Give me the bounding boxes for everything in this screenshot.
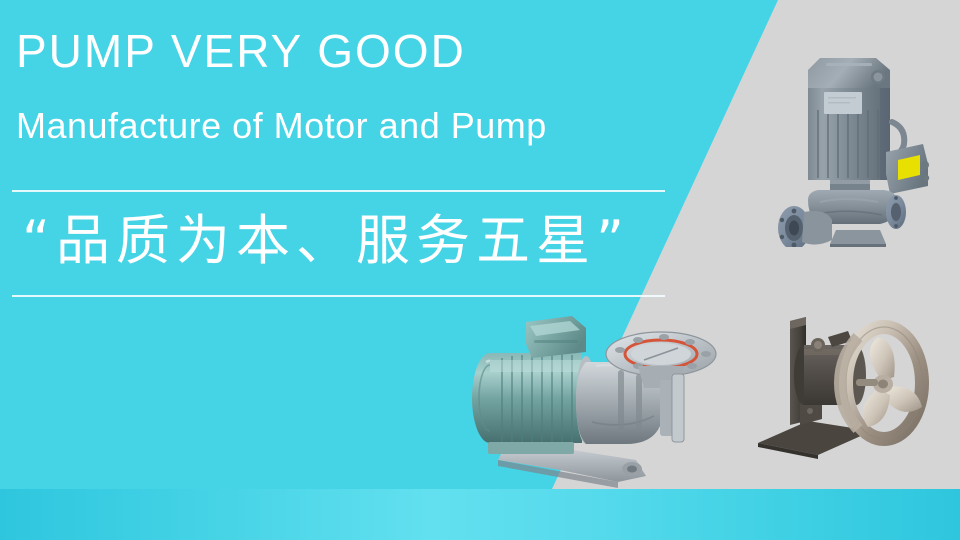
slogan-text: “品质为本、服务五星” <box>22 199 630 283</box>
horizontal-centrifugal-pump-image <box>468 310 733 490</box>
divider-top <box>12 190 665 192</box>
promo-banner: PUMP VERY GOOD Manufacture of Motor and … <box>0 0 960 540</box>
divider-bottom <box>12 295 665 297</box>
discharge-flange <box>886 195 906 229</box>
vertical-inline-pump-image <box>768 52 933 247</box>
page-subtitle: Manufacture of Motor and Pump <box>16 104 547 147</box>
bottom-accent-band <box>0 489 960 540</box>
page-title: PUMP VERY GOOD <box>16 24 466 78</box>
terminal-box <box>526 316 586 358</box>
terminal-box <box>886 144 929 194</box>
pump-base-foot <box>830 230 886 244</box>
submersible-mixer-image <box>752 303 952 473</box>
suction-flange-right <box>660 374 684 442</box>
